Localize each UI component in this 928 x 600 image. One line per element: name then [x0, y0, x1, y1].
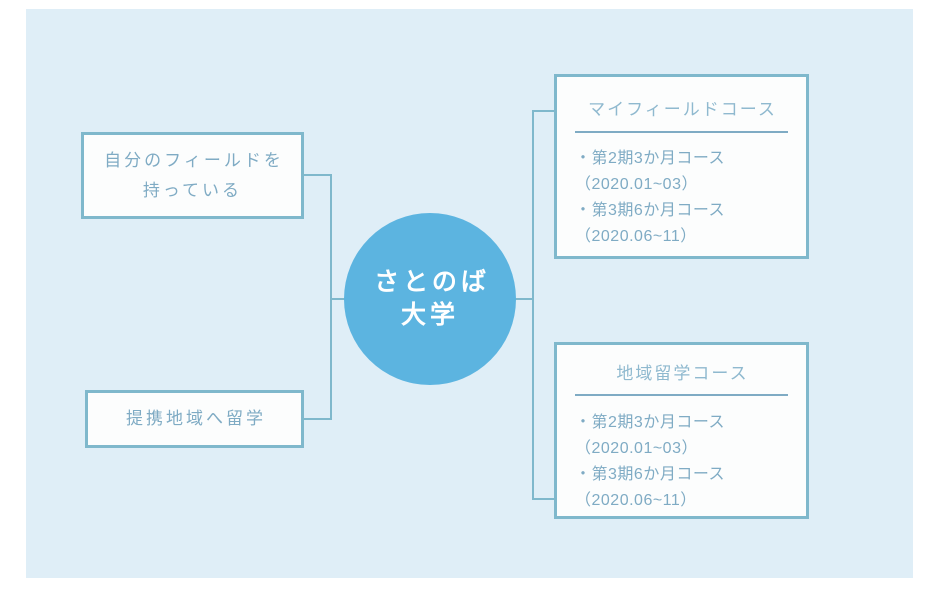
course-title-regional-study: 地域留学コース	[557, 359, 806, 384]
course-item-name: 第2期3か月コース	[592, 150, 726, 167]
connector-exchange-to-trunk	[303, 418, 332, 420]
course-item-name: 第3期6か月コース	[592, 202, 726, 219]
course-item-dates: （2020.06~11）	[575, 224, 806, 250]
condition-label-own-field: 自分のフィールドを 持っている	[101, 146, 284, 206]
condition-box-own-field[interactable]: 自分のフィールドを 持っている	[81, 132, 304, 219]
connector-left-trunk	[330, 174, 332, 420]
connector-field-to-trunk	[303, 174, 332, 176]
course-item-list-my-field: ・第2期3か月コース （2020.01~03） ・第3期6か月コース （2020…	[557, 146, 806, 250]
course-item-dates: （2020.01~03）	[575, 436, 806, 462]
course-item-bullet: ・	[575, 466, 592, 483]
course-item: ・第3期6か月コース （2020.06~11）	[557, 462, 806, 514]
course-divider-regional-study	[575, 394, 788, 396]
course-item: ・第3期6か月コース （2020.06~11）	[557, 198, 806, 250]
course-item-list-regional-study: ・第2期3か月コース （2020.01~03） ・第3期6か月コース （2020…	[557, 410, 806, 514]
connector-trunk-to-myfield	[532, 110, 556, 112]
connector-right-trunk	[532, 110, 534, 500]
course-item-dates: （2020.01~03）	[575, 172, 806, 198]
course-title-my-field: マイフィールドコース	[557, 95, 806, 120]
condition-box-study-abroad[interactable]: 提携地域へ留学	[85, 390, 304, 448]
course-item-name: 第2期3か月コース	[592, 414, 726, 431]
course-item-name: 第3期6か月コース	[592, 466, 726, 483]
course-item-bullet: ・	[575, 150, 592, 167]
condition-label-study-abroad: 提携地域へ留学	[123, 404, 266, 434]
diagram-canvas: 自分のフィールドを 持っている 提携地域へ留学 さとのば 大学 マイフィールドコ…	[0, 0, 928, 600]
course-card-regional-study[interactable]: 地域留学コース ・第2期3か月コース （2020.01~03） ・第3期6か月コ…	[554, 342, 809, 519]
course-card-my-field[interactable]: マイフィールドコース ・第2期3か月コース （2020.01~03） ・第3期6…	[554, 74, 809, 259]
course-item: ・第2期3か月コース （2020.01~03）	[557, 146, 806, 198]
course-divider-my-field	[575, 131, 788, 133]
course-item-bullet: ・	[575, 414, 592, 431]
center-node-satonoba-university[interactable]: さとのば 大学	[344, 213, 516, 385]
course-item-bullet: ・	[575, 202, 592, 219]
connector-trunk-to-regional	[532, 498, 556, 500]
center-node-label: さとのば 大学	[370, 266, 490, 332]
course-item-dates: （2020.06~11）	[575, 488, 806, 514]
course-item: ・第2期3か月コース （2020.01~03）	[557, 410, 806, 462]
